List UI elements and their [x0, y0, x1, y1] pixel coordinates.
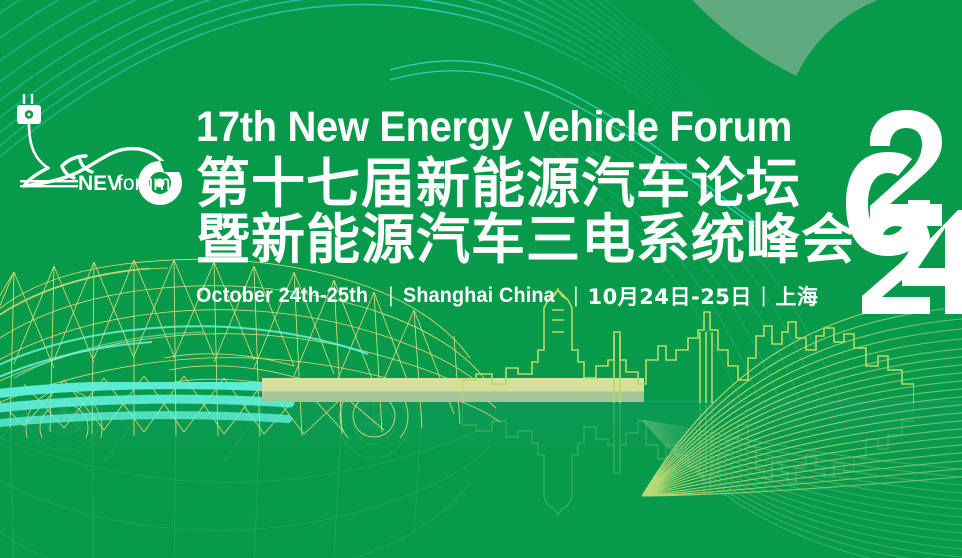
event-meta: October 24th-25th | Shanghai China | 10月… [196, 281, 836, 311]
meta-separator-2: | [564, 284, 587, 308]
title-chinese-line2: 暨新能源汽车三电系统峰会 [196, 211, 836, 269]
logo-text-light: forum [117, 172, 171, 195]
logo-underline [20, 180, 78, 182]
meta-location-english: Shanghai China [403, 284, 555, 308]
nevforum-logo[interactable]: NEV forum [6, 76, 192, 212]
year-2024-graphic [846, 108, 962, 316]
shanghai-skyline-reflection [462, 402, 914, 517]
logo-text-bold: NEV [78, 172, 121, 195]
wireframe-car-reflection [0, 402, 514, 558]
meta-separator-1: | [379, 284, 402, 308]
title-chinese-line1: 第十七届新能源汽车论坛 [196, 155, 836, 213]
event-poster: NEV forum 17th New Energy Vehicle Forum … [0, 0, 962, 558]
meta-date-english: October 24th-25th [196, 284, 368, 308]
meta-date-chinese: 10月24日-25日 [588, 281, 752, 311]
meta-separator-3: | [752, 284, 775, 308]
title-english: 17th New Energy Vehicle Forum [196, 104, 791, 150]
meta-location-chinese: 上海 [775, 281, 818, 311]
charging-plug-icon [17, 94, 48, 168]
headline-block: 17th New Energy Vehicle Forum 第十七届新能源汽车论… [196, 104, 836, 311]
